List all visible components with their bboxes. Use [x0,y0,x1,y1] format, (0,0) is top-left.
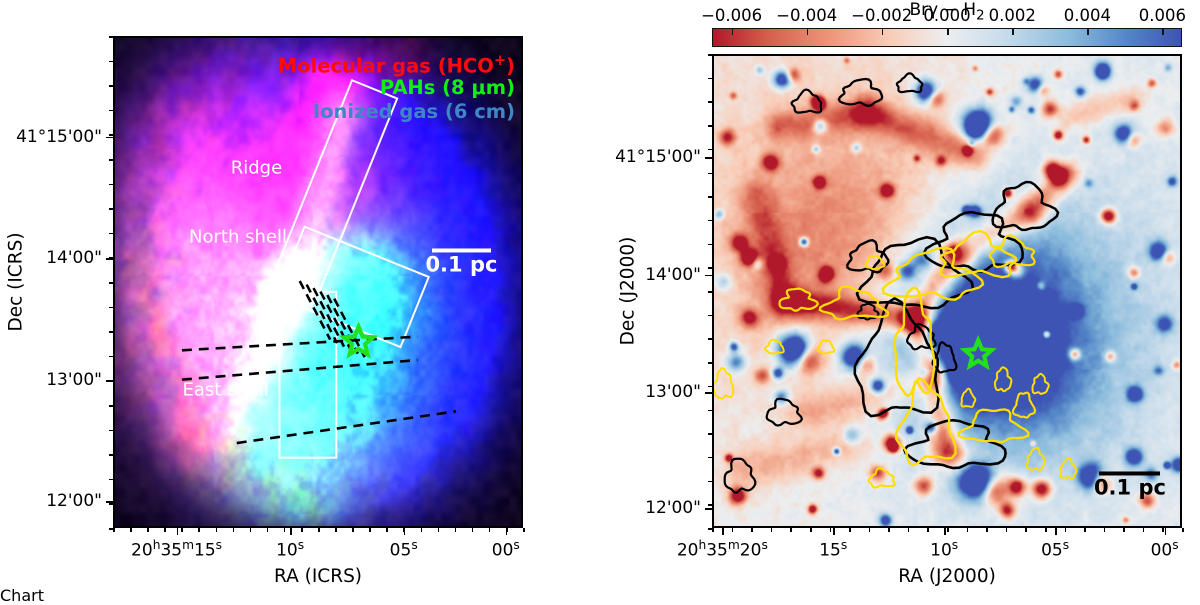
y-axis-label: Dec (J2000) [618,237,639,346]
x-axis-minor-tick [301,528,303,532]
x-axis-minor-tick [318,528,320,532]
x-axis-minor-tick [771,528,773,532]
y-axis-minor-tick [109,85,113,87]
y-axis-minor-tick [109,454,113,456]
y-axis-minor-tick [109,233,113,235]
y-axis-minor-tick [708,457,712,459]
left-panel-rgb-composite[interactable]: Molecular gas (HCO+) PAHs (8 μm) Ionized… [113,36,523,528]
y-axis-tick [705,392,712,394]
y-axis-minor-tick [708,386,712,388]
colorbar-tick [947,28,949,35]
x-axis-tick [1165,528,1167,535]
pah-contour [869,468,895,487]
pah-contour [961,389,975,407]
y-axis-minor-tick [109,528,113,530]
colorbar-tick [732,28,734,35]
colorbar-tick-label: 0.000 [923,6,970,25]
y-axis-minor-tick [708,173,712,175]
pah-contour [780,289,818,311]
x-axis-minor-tick [712,528,714,532]
hco-contour [839,79,882,106]
cut-line-east-shell [237,411,456,443]
y-axis-minor-tick [708,362,712,364]
legend-molecular-gas: Molecular gas (HCO+) [278,52,515,78]
x-axis-minor-tick [1104,528,1106,532]
region-label-ridge: Ridge [231,158,282,179]
scalebar-left: 0.1 pc [425,248,497,275]
x-axis-tick [833,528,835,535]
x-axis-tick-label: 15s [819,538,847,561]
colorbar-tick-label: 0.002 [989,6,1036,25]
y-axis-tick-label: 41°15'00" [615,147,701,167]
y-axis-minor-tick [109,380,113,382]
star-marker-right [965,340,992,366]
scalebar-label: 0.1 pc [425,253,497,275]
region-label-north-shell: North shell [189,227,287,248]
region-label-east-shell: East shell [182,379,268,400]
y-axis-minor-tick [708,338,712,340]
x-axis-tick-label: 05s [390,538,418,561]
x-axis-minor-tick [472,528,474,532]
y-axis-tick-label: 14'00" [645,265,701,285]
x-axis-minor-tick [810,528,812,532]
pah-contour [1060,458,1076,479]
x-axis-tick-label: 20h35m15s [131,538,222,561]
y-axis-minor-tick [109,282,113,284]
hco-contour [725,459,756,493]
x-axis-minor-tick [198,528,200,532]
y-axis-minor-tick [708,410,712,412]
y-axis-minor-tick [109,36,113,38]
x-axis-tick-label: 10s [930,538,958,561]
y-axis-minor-tick [708,315,712,317]
x-axis-minor-tick [489,528,491,532]
y-axis-tick-label: 12'00" [645,498,701,518]
x-axis-label: RA (ICRS) [274,566,362,587]
x-axis-tick-label: 05s [1041,538,1069,561]
y-axis-minor-tick [708,54,712,56]
colorbar-tick [807,28,809,35]
x-axis-tick [722,528,724,535]
colorbar-tick-label: −0.006 [701,6,762,25]
scalebar-label: 0.1 pc [1094,476,1166,498]
pah-contour [995,367,1011,391]
y-axis-minor-tick [109,184,113,186]
x-axis-minor-tick [1084,528,1086,532]
y-axis-minor-tick [708,78,712,80]
x-axis-minor-tick [908,528,910,532]
x-axis-minor-tick [751,528,753,532]
y-axis-tick-label: 12'00" [46,491,102,511]
hco-contour [933,342,957,372]
y-axis-tick-label: 13'00" [645,382,701,402]
y-axis-minor-tick [109,405,113,407]
y-axis-minor-tick [708,433,712,435]
y-axis-minor-tick [109,503,113,505]
y-axis-tick-label: 13'00" [46,370,102,390]
x-axis-minor-tick [250,528,252,532]
x-axis-minor-tick [947,528,949,532]
x-axis-minor-tick [284,528,286,532]
right-panel-contours [714,56,1180,526]
x-axis-minor-tick [523,528,525,532]
x-axis-minor-tick [1045,528,1047,532]
y-axis-minor-tick [109,257,113,259]
colorbar-tick [882,28,884,35]
colorbar-tick [1012,28,1014,35]
x-axis-minor-tick [421,528,423,532]
y-axis-minor-tick [708,504,712,506]
x-axis-minor-tick [147,528,149,532]
y-axis-minor-tick [708,220,712,222]
y-axis-tick-label: 41°15'00" [16,127,102,147]
x-axis-minor-tick [849,528,851,532]
x-axis-minor-tick [1162,528,1164,532]
colorbar-tick-label: −0.004 [776,6,837,25]
x-axis-minor-tick [113,528,115,532]
y-axis-label: Dec (ICRS) [6,232,27,331]
x-axis-label: RA (J2000) [898,566,996,587]
y-axis-minor-tick [708,267,712,269]
cut-line-east-shell [182,360,417,380]
y-axis-minor-tick [109,61,113,63]
pah-contour [1013,393,1035,418]
x-axis-minor-tick [869,528,871,532]
x-axis-minor-tick [130,528,132,532]
y-axis-tick-label: 14'00" [46,248,102,268]
pah-contour [765,340,784,354]
y-axis-minor-tick [708,149,712,151]
x-axis-minor-tick [386,528,388,532]
y-axis-minor-tick [708,196,712,198]
x-axis-tick-label: 20h35m20s [677,538,768,561]
x-axis-minor-tick [438,528,440,532]
colorbar-tick-label: 0.004 [1064,6,1111,25]
y-axis-minor-tick [109,307,113,309]
x-axis-minor-tick [967,528,969,532]
legend-ionized-gas: Ionized gas (6 cm) [313,100,515,123]
x-axis-minor-tick [369,528,371,532]
right-panel-difference-map[interactable]: 0.1 pc [712,54,1182,528]
y-axis-minor-tick [708,244,712,246]
y-axis-minor-tick [109,208,113,210]
y-axis-minor-tick [109,134,113,136]
colorbar-tick-label: 0.006 [1139,6,1186,25]
x-axis-minor-tick [181,528,183,532]
x-axis-tick [1055,528,1057,535]
x-axis-minor-tick [986,528,988,532]
x-axis-tick [944,528,946,535]
x-axis-minor-tick [1182,528,1184,532]
scalebar-right: 0.1 pc [1094,471,1166,498]
x-axis-minor-tick [352,528,354,532]
y-axis-tick [106,137,113,139]
hco-contour [767,399,802,426]
y-axis-minor-tick [708,101,712,103]
pah-contour [713,368,733,398]
x-axis-minor-tick [403,528,405,532]
x-axis-minor-tick [1123,528,1125,532]
x-axis-minor-tick [233,528,235,532]
y-axis-minor-tick [708,291,712,293]
x-axis-minor-tick [927,528,929,532]
x-axis-tick [290,528,292,535]
y-axis-minor-tick [109,356,113,358]
colorbar-tick [1162,28,1164,35]
x-axis-minor-tick [267,528,269,532]
x-axis-minor-tick [830,528,832,532]
y-axis-minor-tick [109,110,113,112]
x-axis-tick-label: 00s [492,538,520,561]
y-axis-tick [705,157,712,159]
y-axis-tick [705,275,712,277]
x-axis-minor-tick [1143,528,1145,532]
x-axis-minor-tick [335,528,337,532]
pah-contour [817,340,834,353]
x-axis-tick [177,528,179,535]
hco-contour [792,90,822,113]
y-axis-tick [705,508,712,510]
x-axis-minor-tick [732,528,734,532]
y-axis-minor-tick [708,481,712,483]
y-axis-minor-tick [708,528,712,530]
y-axis-minor-tick [109,430,113,432]
y-axis-minor-tick [109,159,113,161]
x-axis-minor-tick [455,528,457,532]
x-axis-minor-tick [1025,528,1027,532]
pah-contour [1032,374,1048,394]
x-axis-minor-tick [1065,528,1067,532]
x-axis-minor-tick [888,528,890,532]
x-axis-tick-label: 00s [1151,538,1179,561]
colorbar-tick [1087,28,1089,35]
y-axis-minor-tick [109,331,113,333]
x-axis-tick-label: 10s [276,538,304,561]
y-axis-minor-tick [109,479,113,481]
x-axis-minor-tick [1006,528,1008,532]
legend-pahs: PAHs (8 μm) [380,76,515,99]
colorbar-tick-label: −0.002 [851,6,912,25]
x-axis-minor-tick [164,528,166,532]
north-shell-box [276,227,429,347]
x-axis-minor-tick [216,528,218,532]
pah-contour [1027,448,1045,470]
hco-contour [897,73,923,92]
x-axis-minor-tick [790,528,792,532]
x-axis-minor-tick [506,528,508,532]
y-axis-minor-tick [708,125,712,127]
